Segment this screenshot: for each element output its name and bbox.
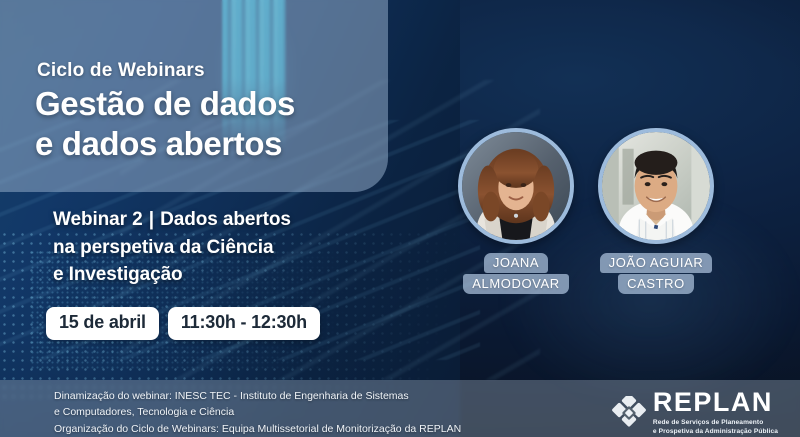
- logo-name: REPLAN: [653, 389, 778, 416]
- subtitle-line-1: Webinar 2 | Dados abertos: [53, 206, 383, 234]
- date-badge: 15 de abril: [46, 307, 159, 340]
- subtitle-line-2: na perspetiva da Ciência: [53, 234, 383, 262]
- speaker-name-line-1: JOÃO AGUIAR: [600, 253, 713, 273]
- logo-tagline-line-2: e Prospetiva da Administração Pública: [653, 428, 778, 437]
- speaker-name-line-2: ALMODOVAR: [463, 274, 569, 294]
- avatar: [458, 128, 574, 244]
- webinar-subtitle: Webinar 2 | Dados abertos na perspetiva …: [53, 206, 383, 289]
- page-title: Gestão de dados e dados abertos: [35, 84, 395, 165]
- speaker-name-badge: JOANA ALMODOVAR: [463, 253, 569, 294]
- subtitle-line-3: e Investigação: [53, 261, 383, 289]
- portrait-joana-almodovar: [462, 132, 570, 240]
- footer-credits: Dinamização do webinar: INESC TEC - Inst…: [54, 388, 461, 437]
- speaker-name-line-1: JOANA: [484, 253, 548, 273]
- webinar-poster: Ciclo de Webinars Gestão de dados e dado…: [0, 0, 800, 437]
- subtitle-topic: Dados abertos: [160, 209, 291, 230]
- subtitle-divider: |: [148, 209, 155, 230]
- speaker-list: JOANA ALMODOVAR: [455, 128, 717, 294]
- speaker-name-line-2: CASTRO: [618, 274, 694, 294]
- logo-tagline-line-1: Rede de Serviços de Planeamento: [653, 419, 778, 428]
- footer-line-2: e Computadores, Tecnologia e Ciência: [54, 404, 461, 420]
- logo-tagline: Rede de Serviços de Planeamento e Prospe…: [653, 419, 778, 437]
- logo-wordmark: REPLAN Rede de Serviços de Planeamento e…: [653, 389, 778, 437]
- speaker-name-badge: JOÃO AGUIAR CASTRO: [600, 253, 713, 294]
- footer-line-3: Organização do Ciclo de Webinars: Equipa…: [54, 421, 461, 437]
- avatar: [598, 128, 714, 244]
- footer-bar: Dinamização do webinar: INESC TEC - Inst…: [0, 380, 800, 437]
- speaker-card: JOÃO AGUIAR CASTRO: [595, 128, 717, 294]
- footer-line-1: Dinamização do webinar: INESC TEC - Inst…: [54, 388, 461, 404]
- webinar-number: Webinar 2: [53, 209, 143, 230]
- replan-logo: REPLAN Rede de Serviços de Planeamento e…: [612, 389, 778, 437]
- headline-line-1: Gestão de dados: [35, 84, 395, 124]
- headline-line-2: e dados abertos: [35, 124, 395, 164]
- series-eyebrow: Ciclo de Webinars: [37, 60, 205, 82]
- replan-diamond-icon: [612, 396, 646, 430]
- portrait-joao-aguiar-castro: [602, 132, 710, 240]
- speaker-card: JOANA ALMODOVAR: [455, 128, 577, 294]
- time-badge: 11:30h - 12:30h: [168, 307, 320, 340]
- schedule-pills: 15 de abril 11:30h - 12:30h: [46, 307, 320, 340]
